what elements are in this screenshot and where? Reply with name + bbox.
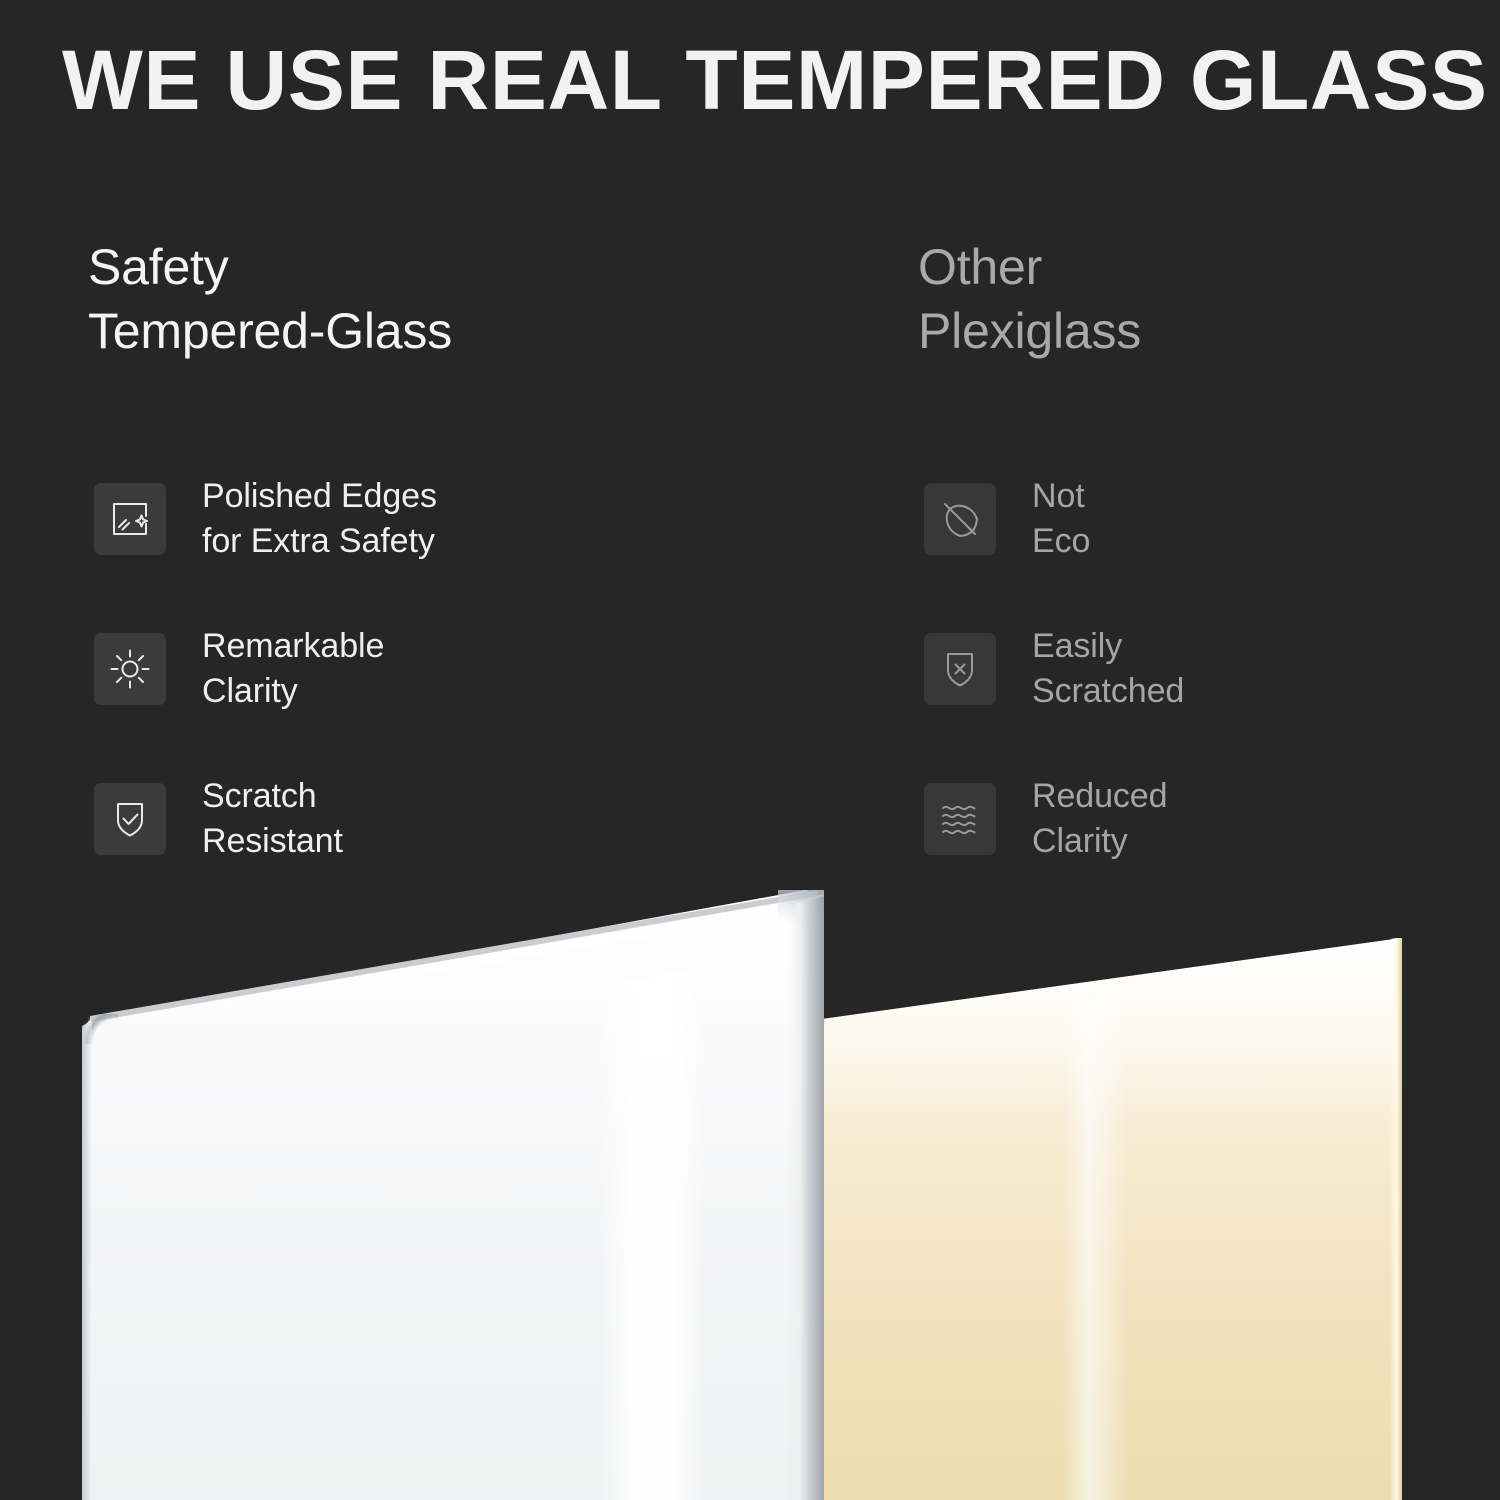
- feature-row-reduced-clarity: Reduced Clarity: [924, 771, 1478, 867]
- promo-infographic: WE USE REAL TEMPERED GLASS Safety Temper…: [0, 0, 1500, 1500]
- feature-label: Scratch Resistant: [202, 774, 343, 864]
- tempered-glass-left-edge: [82, 890, 92, 1500]
- product-photo: [0, 860, 1500, 1500]
- column-heading-left: Safety Tempered-Glass: [88, 235, 788, 363]
- feature-list-right: Not Eco Easily Scratched: [924, 471, 1478, 867]
- tempered-glass-drop-shadow: [788, 890, 824, 1500]
- tempered-glass-panel: [82, 890, 824, 1500]
- column-other-plexiglass: Other Plexiglass Not Eco: [918, 235, 1478, 363]
- feature-label: Easily Scratched: [1032, 624, 1184, 714]
- feature-row-polished-edges: Polished Edges for Extra Safety: [94, 471, 788, 567]
- feature-row-easily-scratched: Easily Scratched: [924, 621, 1478, 717]
- feature-row-not-eco: Not Eco: [924, 471, 1478, 567]
- feature-row-scratch-resistant: Scratch Resistant: [94, 771, 788, 867]
- shield-check-icon: [94, 783, 166, 855]
- feature-label: Polished Edges for Extra Safety: [202, 474, 437, 564]
- feature-label: Reduced Clarity: [1032, 774, 1167, 864]
- plexiglass-panel: [822, 938, 1402, 1500]
- wavy-lines-icon: [924, 783, 996, 855]
- tempered-glass-surface: [82, 890, 824, 1500]
- column-safety-tempered-glass: Safety Tempered-Glass Polished Edges for…: [88, 235, 788, 363]
- feature-list-left: Polished Edges for Extra Safety Remarkab…: [94, 471, 788, 867]
- page-title: WE USE REAL TEMPERED GLASS: [62, 38, 1480, 122]
- plexiglass-reflection-stripe: [1062, 938, 1128, 1500]
- feature-row-remarkable-clarity: Remarkable Clarity: [94, 621, 788, 717]
- feature-label: Not Eco: [1032, 474, 1090, 564]
- feature-label: Remarkable Clarity: [202, 624, 384, 714]
- column-heading-right: Other Plexiglass: [918, 235, 1478, 363]
- shield-x-icon: [924, 633, 996, 705]
- leaf-slash-icon: [924, 483, 996, 555]
- plexiglass-right-edge: [1390, 938, 1402, 1500]
- polished-edge-sparkle-icon: [94, 483, 166, 555]
- comparison-columns: Safety Tempered-Glass Polished Edges for…: [0, 235, 1500, 875]
- brightness-sun-icon: [94, 633, 166, 705]
